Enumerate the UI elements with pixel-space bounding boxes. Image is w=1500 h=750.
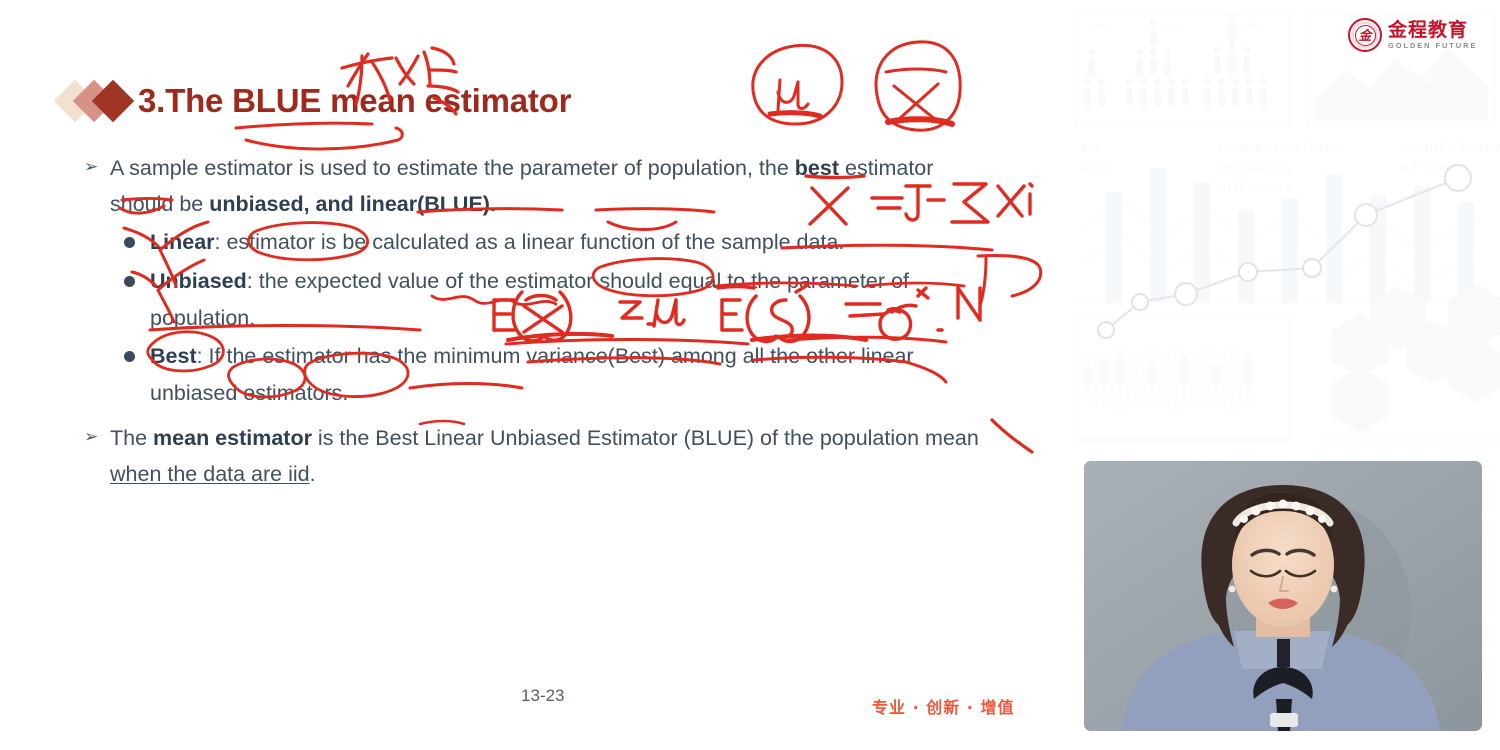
- run-bold: Unbiased: [150, 269, 247, 293]
- run-bold: Best: [150, 344, 197, 368]
- background-infographic-watermark: 40%42%18% COMMUNICATIONS PROTOCOL INTERF…: [1070, 0, 1500, 470]
- run: The: [110, 426, 153, 450]
- right-hook-ink: [978, 256, 1041, 307]
- circled-mu-ink: [753, 45, 842, 124]
- bullet-text-0: A sample estimator is used to estimate t…: [110, 150, 984, 222]
- logo-name-cn: 金程教育: [1388, 21, 1477, 40]
- diagonal-stroke-ink: [992, 420, 1032, 452]
- brand-logo: 金 金程教育 GOLDEN FUTURE: [1348, 18, 1477, 52]
- dot-bullet-icon: [124, 338, 150, 376]
- slide-title-row: 3.The BLUE mean estimator: [60, 78, 571, 124]
- bullet-item-3: Best: If the estimator has the minimum v…: [124, 338, 984, 412]
- svg-text:NETWORK: NETWORK: [1400, 161, 1468, 175]
- run: : If the estimator has the minimum varia…: [150, 344, 914, 405]
- svg-text:40%: 40%: [1092, 22, 1110, 32]
- svg-text:INTERFACE: INTERFACE: [1218, 181, 1294, 195]
- instructor-video-frame: [1084, 461, 1482, 731]
- svg-text:COMMUNICATIONS: COMMUNICATIONS: [1218, 141, 1343, 155]
- bullet-item-2: Unbiased: the expected value of the esti…: [124, 263, 984, 337]
- brand-tagline: 专业 · 创新 · 增值: [872, 694, 1014, 718]
- arrow-bullet-icon: ➢: [84, 150, 110, 184]
- run: : estimator is be calculated as a linear…: [215, 230, 845, 254]
- svg-text:18%: 18%: [1242, 20, 1260, 30]
- page-number: 13-23: [521, 686, 564, 706]
- diamond-bullet-icon: [60, 78, 138, 124]
- bullet-text-2: Unbiased: the expected value of the esti…: [150, 263, 984, 337]
- logo-name-en: GOLDEN FUTURE: [1388, 42, 1477, 50]
- run: .: [310, 462, 316, 486]
- run-underline: when the data are iid: [110, 462, 310, 486]
- bullet-text-3: Best: If the estimator has the minimum v…: [150, 338, 984, 412]
- svg-text:42%: 42%: [1166, 22, 1184, 32]
- dot-bullet-icon: [124, 263, 150, 301]
- svg-text:CONNECTIVITY: CONNECTIVITY: [1400, 141, 1500, 155]
- page-title: 3.The BLUE mean estimator: [138, 82, 571, 120]
- run: is the Best Linear Unbiased Estimator (B…: [312, 426, 979, 450]
- slide-canvas: 40%42%18% COMMUNICATIONS PROTOCOL INTERF…: [0, 0, 1500, 750]
- slide-body: ➢ A sample estimator is used to estimate…: [84, 150, 984, 494]
- run-bold: mean estimator: [153, 426, 312, 450]
- run-bold: Linear: [150, 230, 215, 254]
- bullet-text-1: Linear: estimator is be calculated as a …: [150, 224, 844, 261]
- svg-text:PROTOCOL: PROTOCOL: [1218, 161, 1293, 175]
- svg-text:40%: 40%: [1348, 339, 1378, 356]
- bullet-item-0: ➢ A sample estimator is used to estimate…: [84, 150, 984, 222]
- arrow-bullet-icon: ➢: [84, 420, 110, 454]
- svg-text:TER: TER: [1082, 161, 1109, 175]
- run: : the expected value of the estimator sh…: [150, 269, 909, 330]
- run-bold: unbiased, and linear(BLUE).: [209, 192, 496, 216]
- title-underline-ink: [236, 123, 402, 149]
- svg-text:ES: ES: [1082, 141, 1100, 155]
- bullet-item-1: Linear: estimator is be calculated as a …: [124, 224, 984, 262]
- run-bold: best: [795, 156, 839, 180]
- run: A sample estimator is used to estimate t…: [110, 156, 795, 180]
- dot-bullet-icon: [124, 224, 150, 262]
- instructor-video-panel[interactable]: [1084, 461, 1482, 731]
- circled-xbar-ink: [876, 42, 960, 130]
- bullet-item-4: ➢ The mean estimator is the Best Linear …: [84, 420, 984, 492]
- logo-seal-glyph: 金: [1355, 25, 1376, 46]
- logo-seal-icon: 金: [1348, 18, 1382, 52]
- bullet-text-4: The mean estimator is the Best Linear Un…: [110, 420, 984, 492]
